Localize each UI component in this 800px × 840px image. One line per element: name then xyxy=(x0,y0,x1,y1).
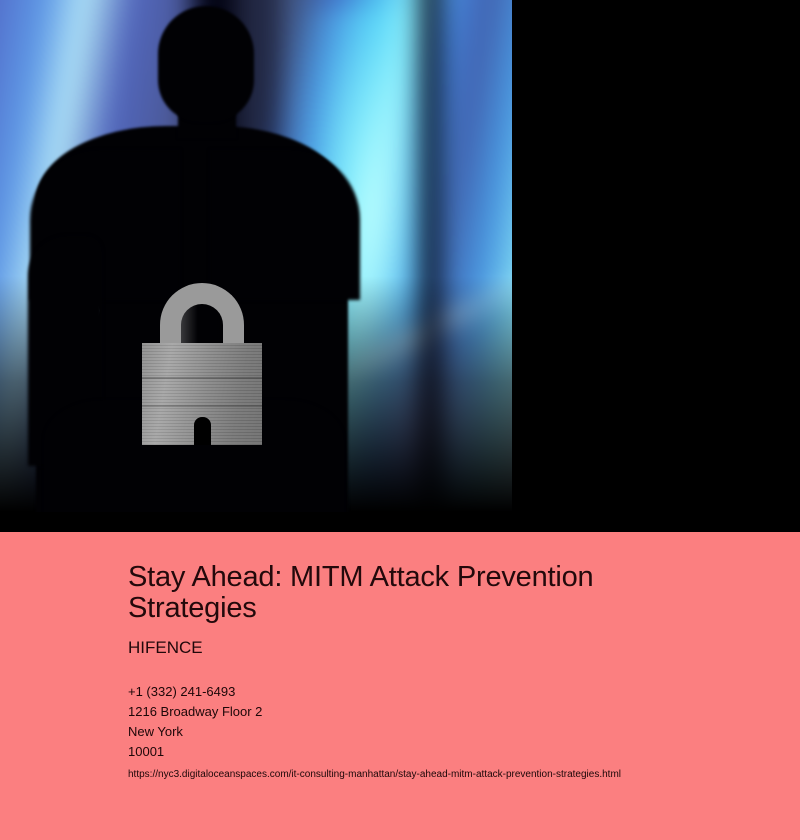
info-content: Stay Ahead: MITM Attack Prevention Strat… xyxy=(128,562,748,782)
page-title: Stay Ahead: MITM Attack Prevention Strat… xyxy=(128,562,673,624)
padlock-body xyxy=(142,343,262,445)
padlock-seam-lower xyxy=(142,405,262,407)
contact-city: New York xyxy=(128,722,748,742)
contact-postal-code: 10001 xyxy=(128,742,748,762)
hero-band xyxy=(0,0,800,532)
padlock-icon xyxy=(142,283,262,445)
padlock-seam-upper xyxy=(142,377,262,379)
silhouette-head xyxy=(158,6,254,122)
brand-name: HIFENCE xyxy=(128,638,748,658)
source-url[interactable]: https://nyc3.digitaloceanspaces.com/it-c… xyxy=(128,768,748,782)
hero-photo xyxy=(0,0,512,512)
contact-block: +1 (332) 241-6493 1216 Broadway Floor 2 … xyxy=(128,682,748,782)
contact-street: 1216 Broadway Floor 2 xyxy=(128,702,748,722)
info-panel: Stay Ahead: MITM Attack Prevention Strat… xyxy=(0,532,800,840)
padlock-keyhole xyxy=(194,417,211,445)
contact-phone[interactable]: +1 (332) 241-6493 xyxy=(128,682,748,702)
silhouette-shoulder-right xyxy=(210,150,360,300)
